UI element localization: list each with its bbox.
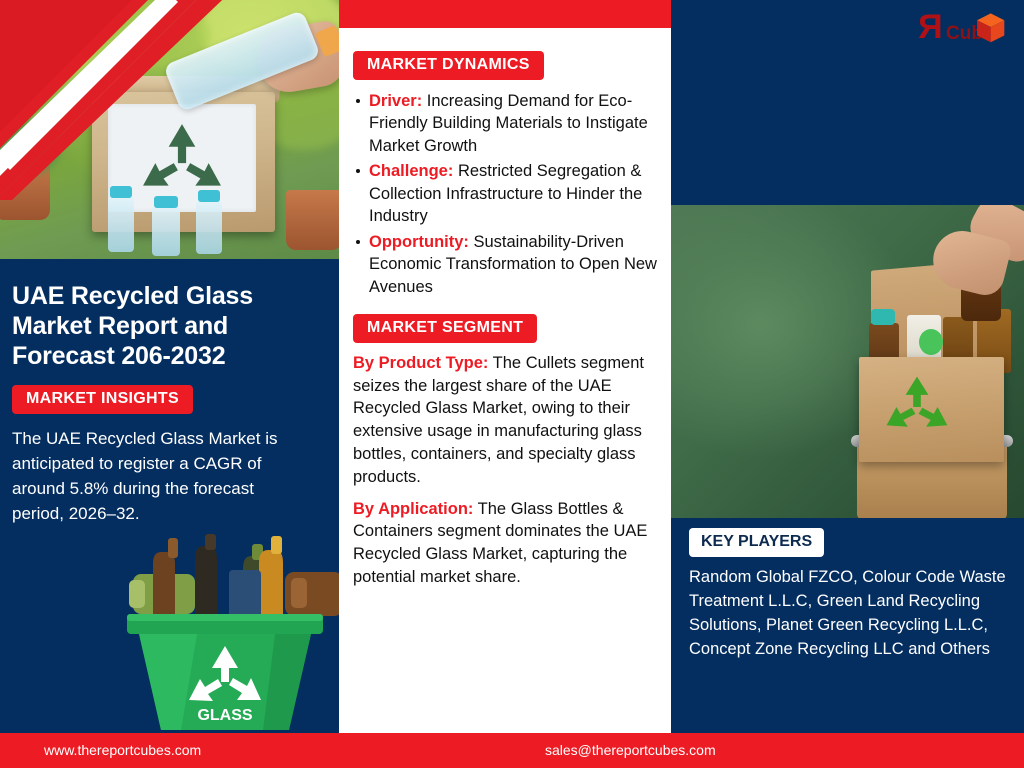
key-players-badge-wrap: KEY PLAYERS <box>671 528 1024 557</box>
market-insights-text: The UAE Recycled Glass Market is anticip… <box>0 414 339 527</box>
left-hero-photo <box>0 0 339 259</box>
market-dynamics-badge: MARKET DYNAMICS <box>353 51 544 80</box>
key-players-badge: KEY PLAYERS <box>689 528 824 557</box>
list-item: Opportunity: Sustainability-Driven Econo… <box>369 231 659 298</box>
dynamics-label: Opportunity: <box>369 233 469 251</box>
footer-email[interactable]: sales@thereportcubes.com <box>545 742 716 758</box>
left-text-block: UAE Recycled Glass Market Report and For… <box>0 259 339 527</box>
segment-paragraph: By Application: The Glass Bottles & Cont… <box>353 498 659 589</box>
key-players-block: KEY PLAYERS Random Global FZCO, Colour C… <box>671 528 1024 661</box>
market-segment-badge-wrap: MARKET SEGMENT <box>353 314 671 343</box>
market-segment-badge: MARKET SEGMENT <box>353 314 537 343</box>
brand-logo[interactable]: R Cube <box>906 4 1010 52</box>
market-insights-badge-wrap: MARKET INSIGHTS <box>0 371 339 414</box>
footer-bar: www.thereportcubes.com sales@thereportcu… <box>0 733 1024 768</box>
glass-recycling-bin-illustration: GLASS <box>105 522 339 733</box>
dynamics-label: Challenge: <box>369 162 453 180</box>
segment-paragraph: By Product Type: The Cullets segment sei… <box>353 352 659 489</box>
reversed-r-icon: R <box>918 10 943 44</box>
recycle-icon <box>128 118 236 200</box>
left-column: UAE Recycled Glass Market Report and For… <box>0 0 339 733</box>
infographic-canvas: UAE Recycled Glass Market Report and For… <box>0 0 1024 768</box>
key-players-text: Random Global FZCO, Colour Code Waste Tr… <box>671 557 1024 661</box>
segment-label: By Product Type: <box>353 354 488 372</box>
bin-label: GLASS <box>197 707 252 724</box>
dynamics-label: Driver: <box>369 92 422 110</box>
recycle-icon <box>879 373 955 435</box>
segment-text: The Cullets segment seizes the largest s… <box>353 354 644 486</box>
market-dynamics-badge-wrap: MARKET DYNAMICS <box>353 51 671 80</box>
middle-column: MARKET DYNAMICS Driver: Increasing Deman… <box>339 0 671 733</box>
cube-icon <box>972 10 1006 44</box>
list-item: Challenge: Restricted Segregation & Coll… <box>369 160 659 227</box>
right-hero-photo <box>671 205 1024 518</box>
segment-label: By Application: <box>353 500 473 518</box>
middle-top-red-bar <box>339 0 671 28</box>
market-dynamics-list: Driver: Increasing Demand for Eco-Friend… <box>353 90 659 298</box>
list-item: Driver: Increasing Demand for Eco-Friend… <box>369 90 659 157</box>
right-column: KEY PLAYERS Random Global FZCO, Colour C… <box>671 0 1024 733</box>
page-title: UAE Recycled Glass Market Report and For… <box>0 259 339 371</box>
footer-website[interactable]: www.thereportcubes.com <box>44 742 201 758</box>
middle-content: MARKET DYNAMICS Driver: Increasing Deman… <box>339 28 671 589</box>
market-insights-badge: MARKET INSIGHTS <box>12 385 193 414</box>
